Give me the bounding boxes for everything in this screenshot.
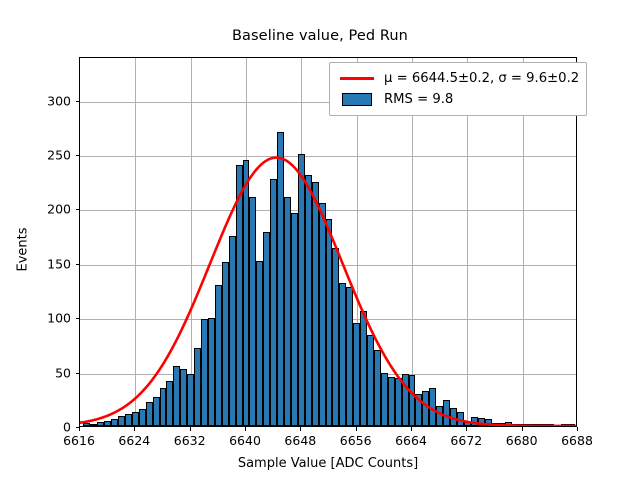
histogram-bar [360, 311, 367, 426]
histogram-bar [256, 261, 263, 426]
y-tick-mark [76, 209, 80, 210]
y-tick-label: 250 [31, 147, 71, 162]
histogram-bar [139, 409, 146, 426]
histogram-bar [173, 366, 180, 426]
histogram-bar [215, 285, 222, 426]
histogram-bar [561, 424, 568, 426]
legend-label-fit: μ = 6644.5±0.2, σ = 9.6±0.2 [384, 71, 579, 86]
histogram-bar [457, 412, 464, 426]
histogram-bar [374, 350, 381, 426]
y-tick-mark [76, 155, 80, 156]
histogram-bar [381, 373, 388, 426]
y-axis-label: Events [16, 180, 31, 320]
histogram-bar [505, 422, 512, 426]
legend-item-rms: RMS = 9.8 [337, 89, 579, 110]
x-axis-label: Sample Value [ADC Counts] [79, 456, 577, 471]
histogram-bar [485, 419, 492, 426]
y-tick-label: 300 [31, 93, 71, 108]
y-tick-mark [76, 101, 80, 102]
histogram-bar [263, 232, 270, 426]
histogram-bar [104, 421, 111, 426]
x-tick-label: 6648 [284, 433, 316, 448]
y-tick-mark [76, 318, 80, 319]
histogram-bar [90, 424, 97, 426]
y-tick-label: 200 [31, 202, 71, 217]
histogram-bar [305, 175, 312, 426]
histogram-bar [243, 160, 250, 426]
x-tick-mark [134, 427, 135, 431]
histogram-bar [194, 348, 201, 426]
histogram-bar [97, 422, 104, 426]
x-tick-label: 6624 [118, 433, 150, 448]
histogram-bar [415, 394, 422, 426]
legend-label-rms: RMS = 9.8 [384, 92, 453, 107]
histogram-bar [229, 236, 236, 426]
histogram-bar [429, 388, 436, 426]
histogram-bar [402, 374, 409, 426]
histogram-bar [436, 406, 443, 426]
histogram-bar [236, 165, 243, 426]
histogram-bar [83, 423, 90, 426]
histogram-bar [222, 262, 229, 426]
y-tick-mark [76, 373, 80, 374]
x-tick-mark [577, 427, 578, 431]
histogram-bar [540, 424, 547, 426]
histogram-bar [450, 408, 457, 427]
histogram-bar [395, 378, 402, 426]
histogram-bar [160, 388, 167, 426]
x-tick-label: 6664 [395, 433, 427, 448]
histogram-bar [319, 203, 326, 426]
x-tick-mark [190, 427, 191, 431]
x-tick-mark [356, 427, 357, 431]
histogram-bar [339, 283, 346, 426]
histogram-bar [471, 417, 478, 426]
histogram-bar [326, 219, 333, 426]
x-tick-label: 6672 [450, 433, 482, 448]
histogram-bar [533, 424, 540, 426]
histogram-bar [312, 182, 319, 426]
y-tick-label: 150 [31, 256, 71, 271]
histogram-bar [180, 369, 187, 426]
x-tick-mark [245, 427, 246, 431]
histogram-bar [298, 154, 305, 426]
chart-legend: μ = 6644.5±0.2, σ = 9.6±0.2 RMS = 9.8 [329, 62, 587, 116]
histogram-bar [519, 424, 526, 426]
histogram-bar [478, 418, 485, 426]
histogram-bar [111, 419, 118, 426]
x-tick-label: 6616 [63, 433, 95, 448]
legend-item-fit: μ = 6644.5±0.2, σ = 9.6±0.2 [337, 68, 579, 89]
histogram-bar [464, 422, 471, 426]
histogram-bar [332, 248, 339, 426]
y-tick-mark [76, 427, 80, 428]
histogram-bar [568, 424, 575, 426]
histogram-bar [187, 374, 194, 426]
histogram-bar [270, 179, 277, 426]
x-tick-mark [466, 427, 467, 431]
x-tick-mark [411, 427, 412, 431]
matplotlib-figure: Baseline value, Ped Run 6616662466326640… [0, 0, 640, 480]
histogram-bar [284, 197, 291, 426]
x-tick-label: 6632 [174, 433, 206, 448]
histogram-bar [422, 391, 429, 426]
y-tick-mark [76, 264, 80, 265]
histogram-bar [201, 319, 208, 426]
x-tick-label: 6680 [506, 433, 538, 448]
y-tick-label: 0 [31, 420, 71, 435]
histogram-bar [367, 335, 374, 426]
x-tick-mark [522, 427, 523, 431]
legend-patch-swatch [337, 93, 377, 106]
histogram-bar [353, 323, 360, 426]
histogram-bar [443, 400, 450, 426]
histogram-bar [512, 424, 519, 426]
x-tick-label: 6640 [229, 433, 261, 448]
histogram-bar [547, 424, 554, 426]
histogram-bar [132, 412, 139, 426]
x-tick-mark [300, 427, 301, 431]
histogram-bar [492, 423, 499, 426]
chart-title: Baseline value, Ped Run [0, 28, 640, 44]
histogram-bar [118, 416, 125, 426]
histogram-bar [125, 414, 132, 426]
histogram-bar [498, 423, 505, 426]
y-tick-label: 100 [31, 311, 71, 326]
histogram-bar [409, 375, 416, 426]
histogram-bar [346, 287, 353, 426]
x-tick-mark [79, 427, 80, 431]
histogram-bar [277, 132, 284, 426]
histogram-bar [208, 318, 215, 426]
histogram-bar [526, 424, 533, 426]
x-tick-label: 6688 [561, 433, 593, 448]
histogram-bar [249, 197, 256, 426]
x-tick-label: 6656 [340, 433, 372, 448]
histogram-bar [153, 397, 160, 426]
histogram-bar [146, 402, 153, 426]
histogram-bar [291, 213, 298, 426]
legend-line-swatch [337, 77, 377, 80]
histogram-bar [388, 377, 395, 426]
y-tick-label: 50 [31, 365, 71, 380]
histogram-bar [166, 381, 173, 426]
